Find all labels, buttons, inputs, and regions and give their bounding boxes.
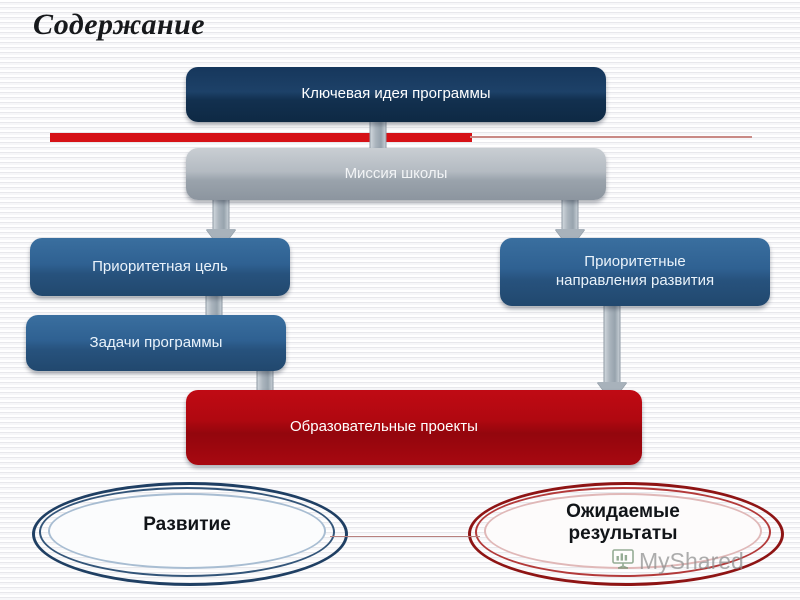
presentation-screen-icon [612, 549, 634, 574]
node-educational-projects[interactable]: Образовательные проекты [186, 390, 642, 465]
outcome-expected-results-line2: результаты [569, 523, 678, 545]
node-priority-directions-line2: направления развития [556, 272, 714, 291]
node-mission[interactable]: Миссия школы [186, 148, 606, 200]
node-priority-directions-line1: Приоритетные [584, 253, 685, 272]
outcome-development[interactable]: Развитие [32, 482, 342, 580]
presentation-slide: Содержание Ключевая идея программы Мисси… [0, 0, 800, 600]
node-priority-directions[interactable]: Приоритетные направления развития [500, 238, 770, 306]
red-rule-thick [50, 133, 472, 142]
node-educational-projects-label: Образовательные проекты [290, 418, 478, 437]
node-priority-goal[interactable]: Приоритетная цель [30, 238, 290, 296]
node-key-idea[interactable]: Ключевая идея программы [186, 67, 606, 122]
outcome-development-label: Развитие [32, 476, 342, 574]
red-rule-thin [470, 136, 752, 138]
outcome-expected-results-line1: Ожидаемые [566, 501, 680, 523]
node-program-tasks[interactable]: Задачи программы [26, 315, 286, 371]
myshared-watermark: MyShared [612, 548, 744, 575]
page-title: Содержание [33, 8, 205, 42]
arrow-directions-to-projects [596, 306, 628, 402]
watermark-text: MyShared [639, 548, 744, 575]
ellipse-connector-line [330, 536, 480, 537]
